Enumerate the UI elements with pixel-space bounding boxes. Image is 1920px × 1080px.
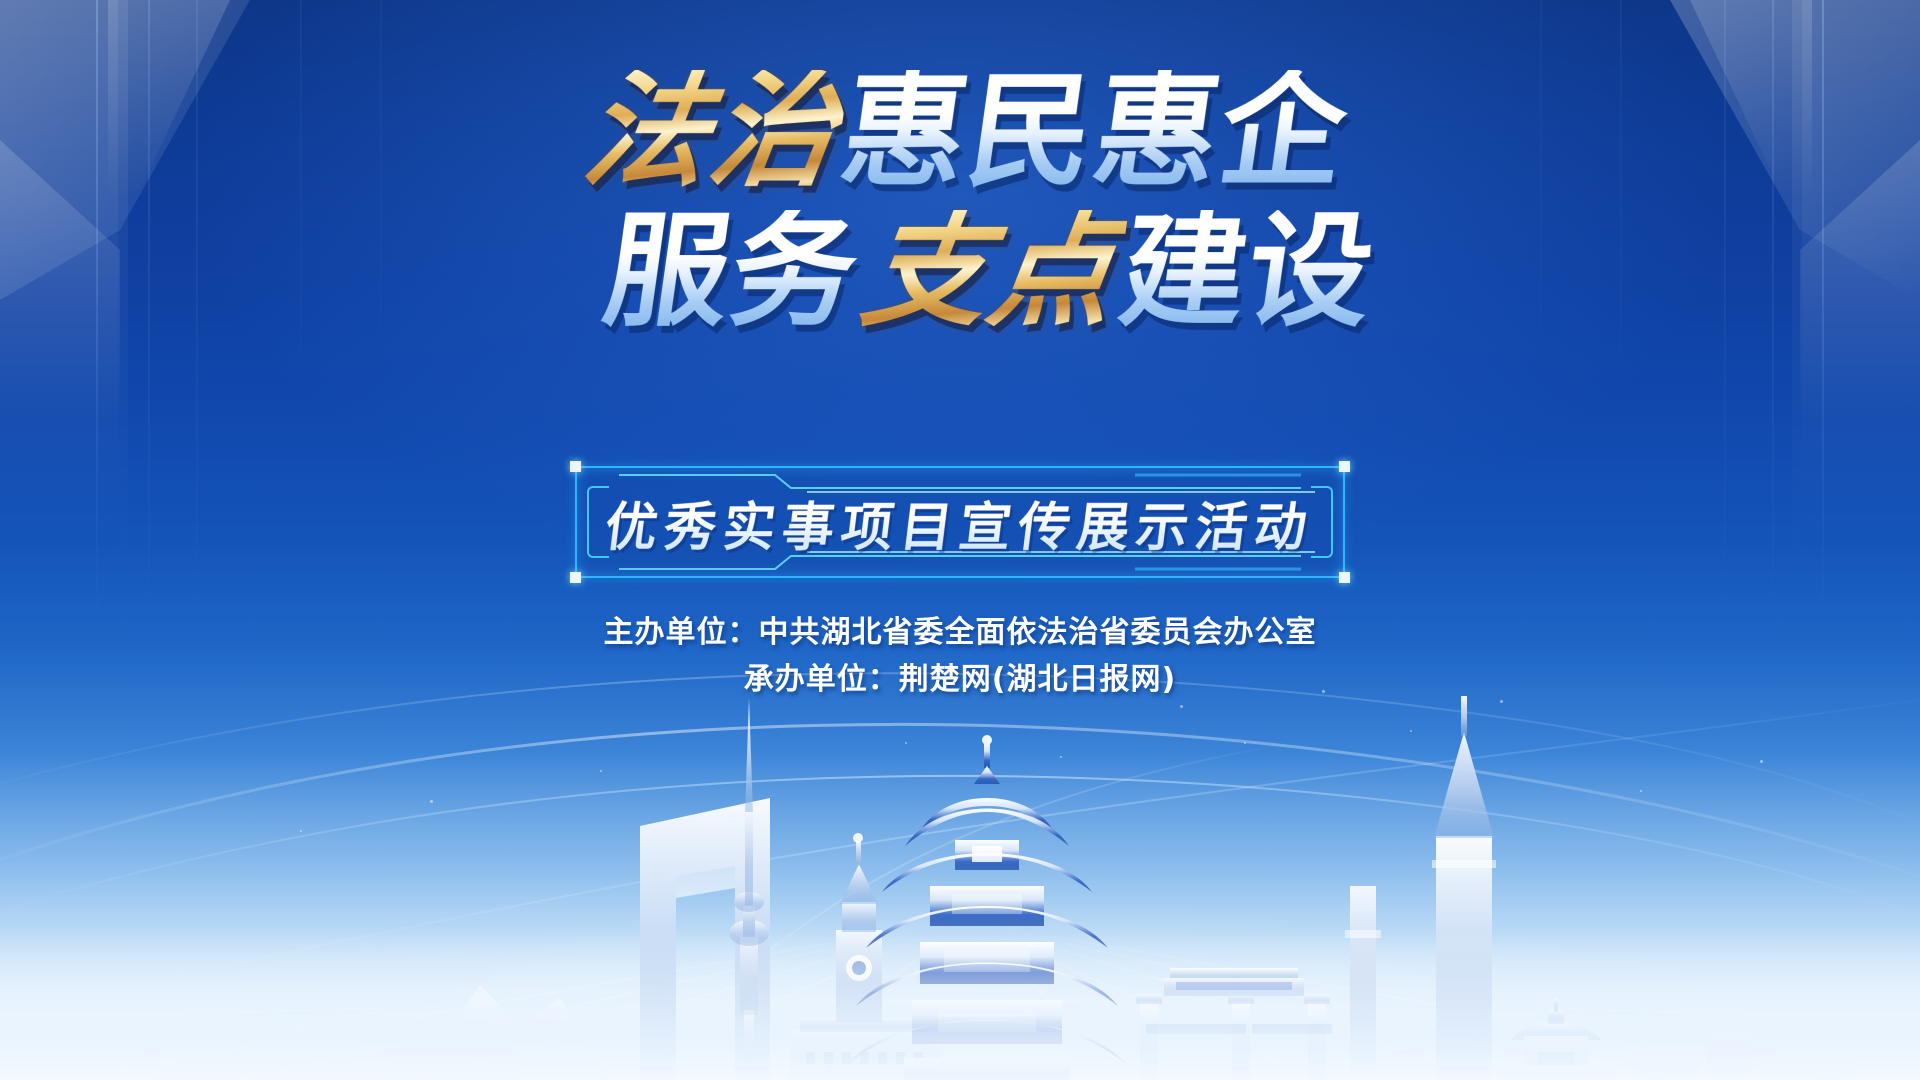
tv-tower-icon [729,698,769,1080]
title-line-2: 服务支点建设 [0,210,1920,334]
yangtze-bridge-pier-icon [1345,886,1381,1080]
yellow-crane-tower-icon [848,735,1126,1080]
title-silver-fuwu: 服务 [595,210,868,334]
title-silver-huiminhuiqi: 惠民惠企 [832,70,1357,194]
low-buildings-left-icon [440,1052,600,1080]
title-line-1: 法治惠民惠企 [0,70,1920,194]
distant-hills-icon [150,985,610,1080]
organizer-block: 主办单位：中共湖北省委全面依法治省委员会办公室 承办单位：荆楚网(湖北日报网) [0,610,1920,703]
low-buildings-right-icon [1630,1032,1850,1080]
poster-canvas: 法治惠民惠企 服务支点建设 优秀实事项目宣传展示活动 主办单位：中共湖北省委全面… [0,0,1920,1080]
floor-light-streaks [0,880,1920,1080]
wuhan-skyline-silhouette [0,680,1920,1080]
subtitle-banner: 优秀实事项目宣传展示活动 [575,466,1345,578]
organizer-line-host: 主办单位：中共湖北省委全面依法治省委员会办公室 [0,610,1920,657]
title-gold-zhidian: 支点 [851,210,1128,334]
organizer-line-operator: 承办单位：荆楚网(湖北日报网) [0,657,1920,704]
title-gold-fazhi: 法治 [572,70,849,194]
jianghan-customs-clock-tower-icon [790,833,940,1080]
horizon-glow [0,750,1920,1080]
subtitle-text: 优秀实事项目宣传展示活动 [568,466,1352,578]
modern-skyscraper-icon [1432,696,1496,1080]
title-silver-jianshe: 建设 [1111,210,1384,334]
qintai-gate-building-icon [640,798,770,1080]
memorial-archway-icon [1136,968,1332,1080]
poster-title: 法治惠民惠企 服务支点建设 [0,70,1920,334]
riverside-pavilion-icon [1496,998,1616,1080]
